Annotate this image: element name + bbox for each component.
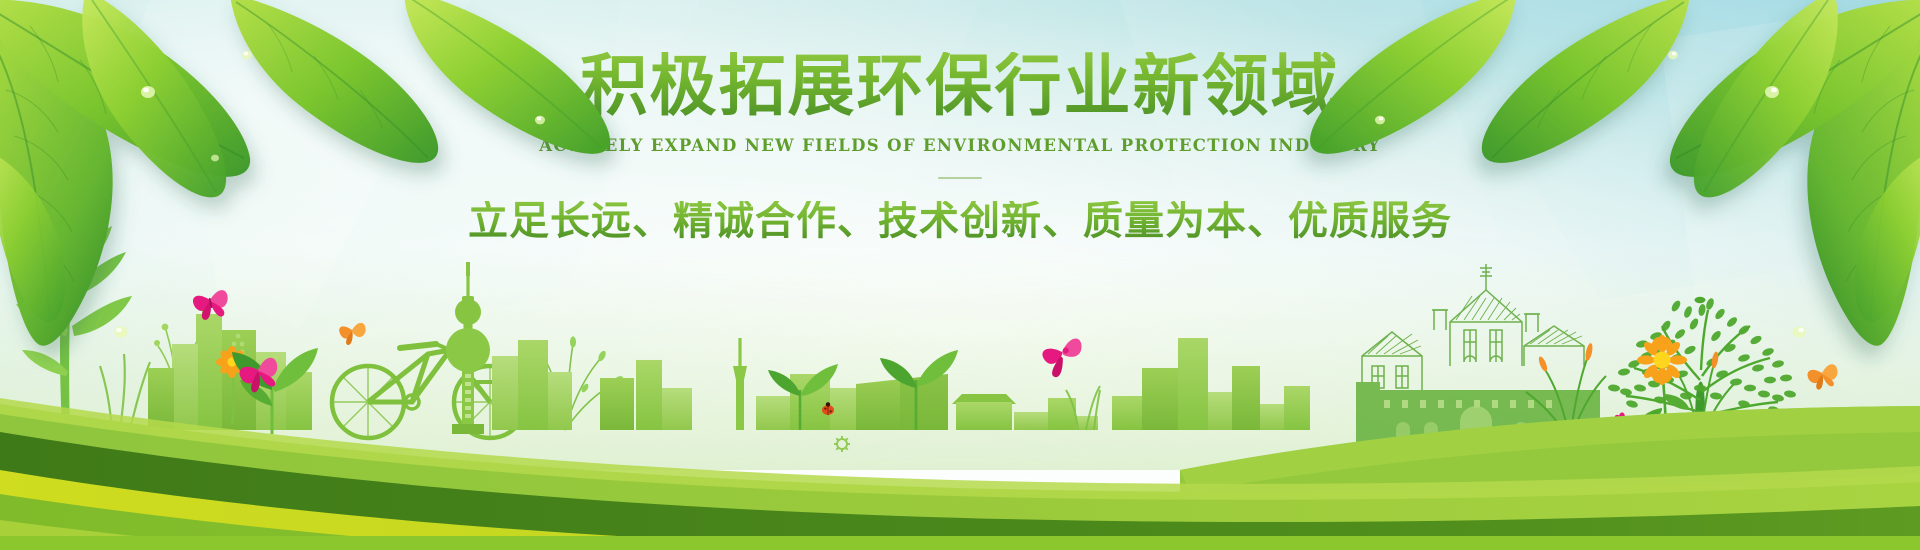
leaves-top-right (0, 0, 1920, 550)
leaf-right-5 (1310, 0, 1516, 154)
leaf-right-4 (1482, 0, 1690, 163)
eco-banner: 积极拓展环保行业新领域 ACTIVELY EXPAND NEW FIELDS O… (0, 0, 1920, 550)
